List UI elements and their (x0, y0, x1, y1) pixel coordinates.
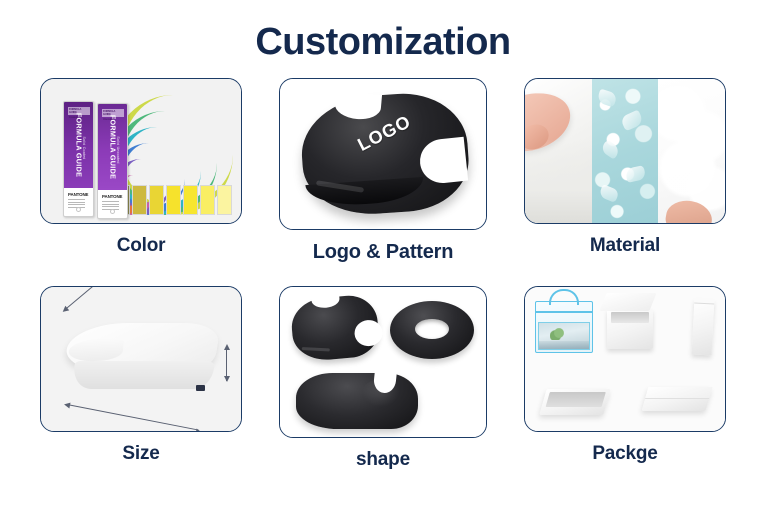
card-package[interactable]: Packge (524, 286, 726, 465)
white-contour-pillow-with-dimension-arrows-icon (41, 287, 241, 431)
customization-card-grid: FORMULA GUIDECoated FORMULA GUIDE Solid … (0, 78, 766, 471)
card-row-top: FORMULA GUIDECoated FORMULA GUIDE Solid … (40, 78, 726, 264)
card-material-image[interactable] (524, 78, 726, 224)
card-color-image[interactable]: FORMULA GUIDECoated FORMULA GUIDE Solid … (40, 78, 242, 224)
seat-cushion-shape: LOGO (302, 95, 468, 213)
card-logo-pattern[interactable]: LOGO Logo & Pattern (279, 78, 487, 264)
contour-pillow-shape (67, 323, 217, 397)
pantone-book-coated: FORMULA GUIDECoated FORMULA GUIDE Solid … (63, 101, 94, 217)
card-row-bottom: Size (40, 286, 726, 471)
card-label-color: Color (117, 235, 166, 257)
contoured-wedge-cushion (296, 373, 418, 429)
card-package-image[interactable] (524, 286, 726, 432)
memory-foam-hand-press-panel (525, 79, 592, 223)
u-shape-coccyx-cushion (289, 293, 380, 362)
open-gift-box (607, 309, 653, 349)
donut-ring-cushion (390, 301, 474, 359)
tall-slim-box (692, 299, 715, 356)
black-seat-cushion-with-logo-print-icon: LOGO (280, 79, 486, 229)
card-shape-image[interactable] (279, 286, 487, 438)
material-triptych-foam-shredded-fiber-icon (525, 79, 725, 223)
packaging-options-bag-and-boxes-icon (525, 287, 725, 431)
page-title: Customization (0, 16, 766, 68)
shallow-tray-box (539, 389, 610, 415)
card-material[interactable]: Material (524, 78, 726, 257)
three-black-cushion-shapes-icon (280, 287, 486, 437)
pantone-fan-chart (113, 93, 241, 215)
card-shape[interactable]: shape (279, 286, 487, 471)
zippered-tote-bag (535, 301, 593, 353)
white-fiber-fill-panel (658, 79, 725, 223)
closed-flat-box (642, 387, 713, 411)
card-label-package: Packge (592, 443, 657, 465)
pantone-book-uncoated: FORMULA GUIDEUncoated FORMULA GUIDE Soli… (97, 103, 128, 219)
pantone-color-guide-fan-deck-icon: FORMULA GUIDECoated FORMULA GUIDE Solid … (41, 79, 241, 223)
card-logo-pattern-image[interactable]: LOGO (279, 78, 487, 230)
card-label-shape: shape (356, 449, 410, 471)
shredded-blue-foam-panel (592, 79, 659, 223)
card-size[interactable]: Size (40, 286, 242, 465)
customization-page: Customization (0, 16, 766, 471)
card-size-image[interactable] (40, 286, 242, 432)
card-label-size: Size (122, 443, 159, 465)
card-label-logo-pattern: Logo & Pattern (313, 241, 454, 264)
card-color[interactable]: FORMULA GUIDECoated FORMULA GUIDE Solid … (40, 78, 242, 257)
card-label-material: Material (590, 235, 660, 257)
